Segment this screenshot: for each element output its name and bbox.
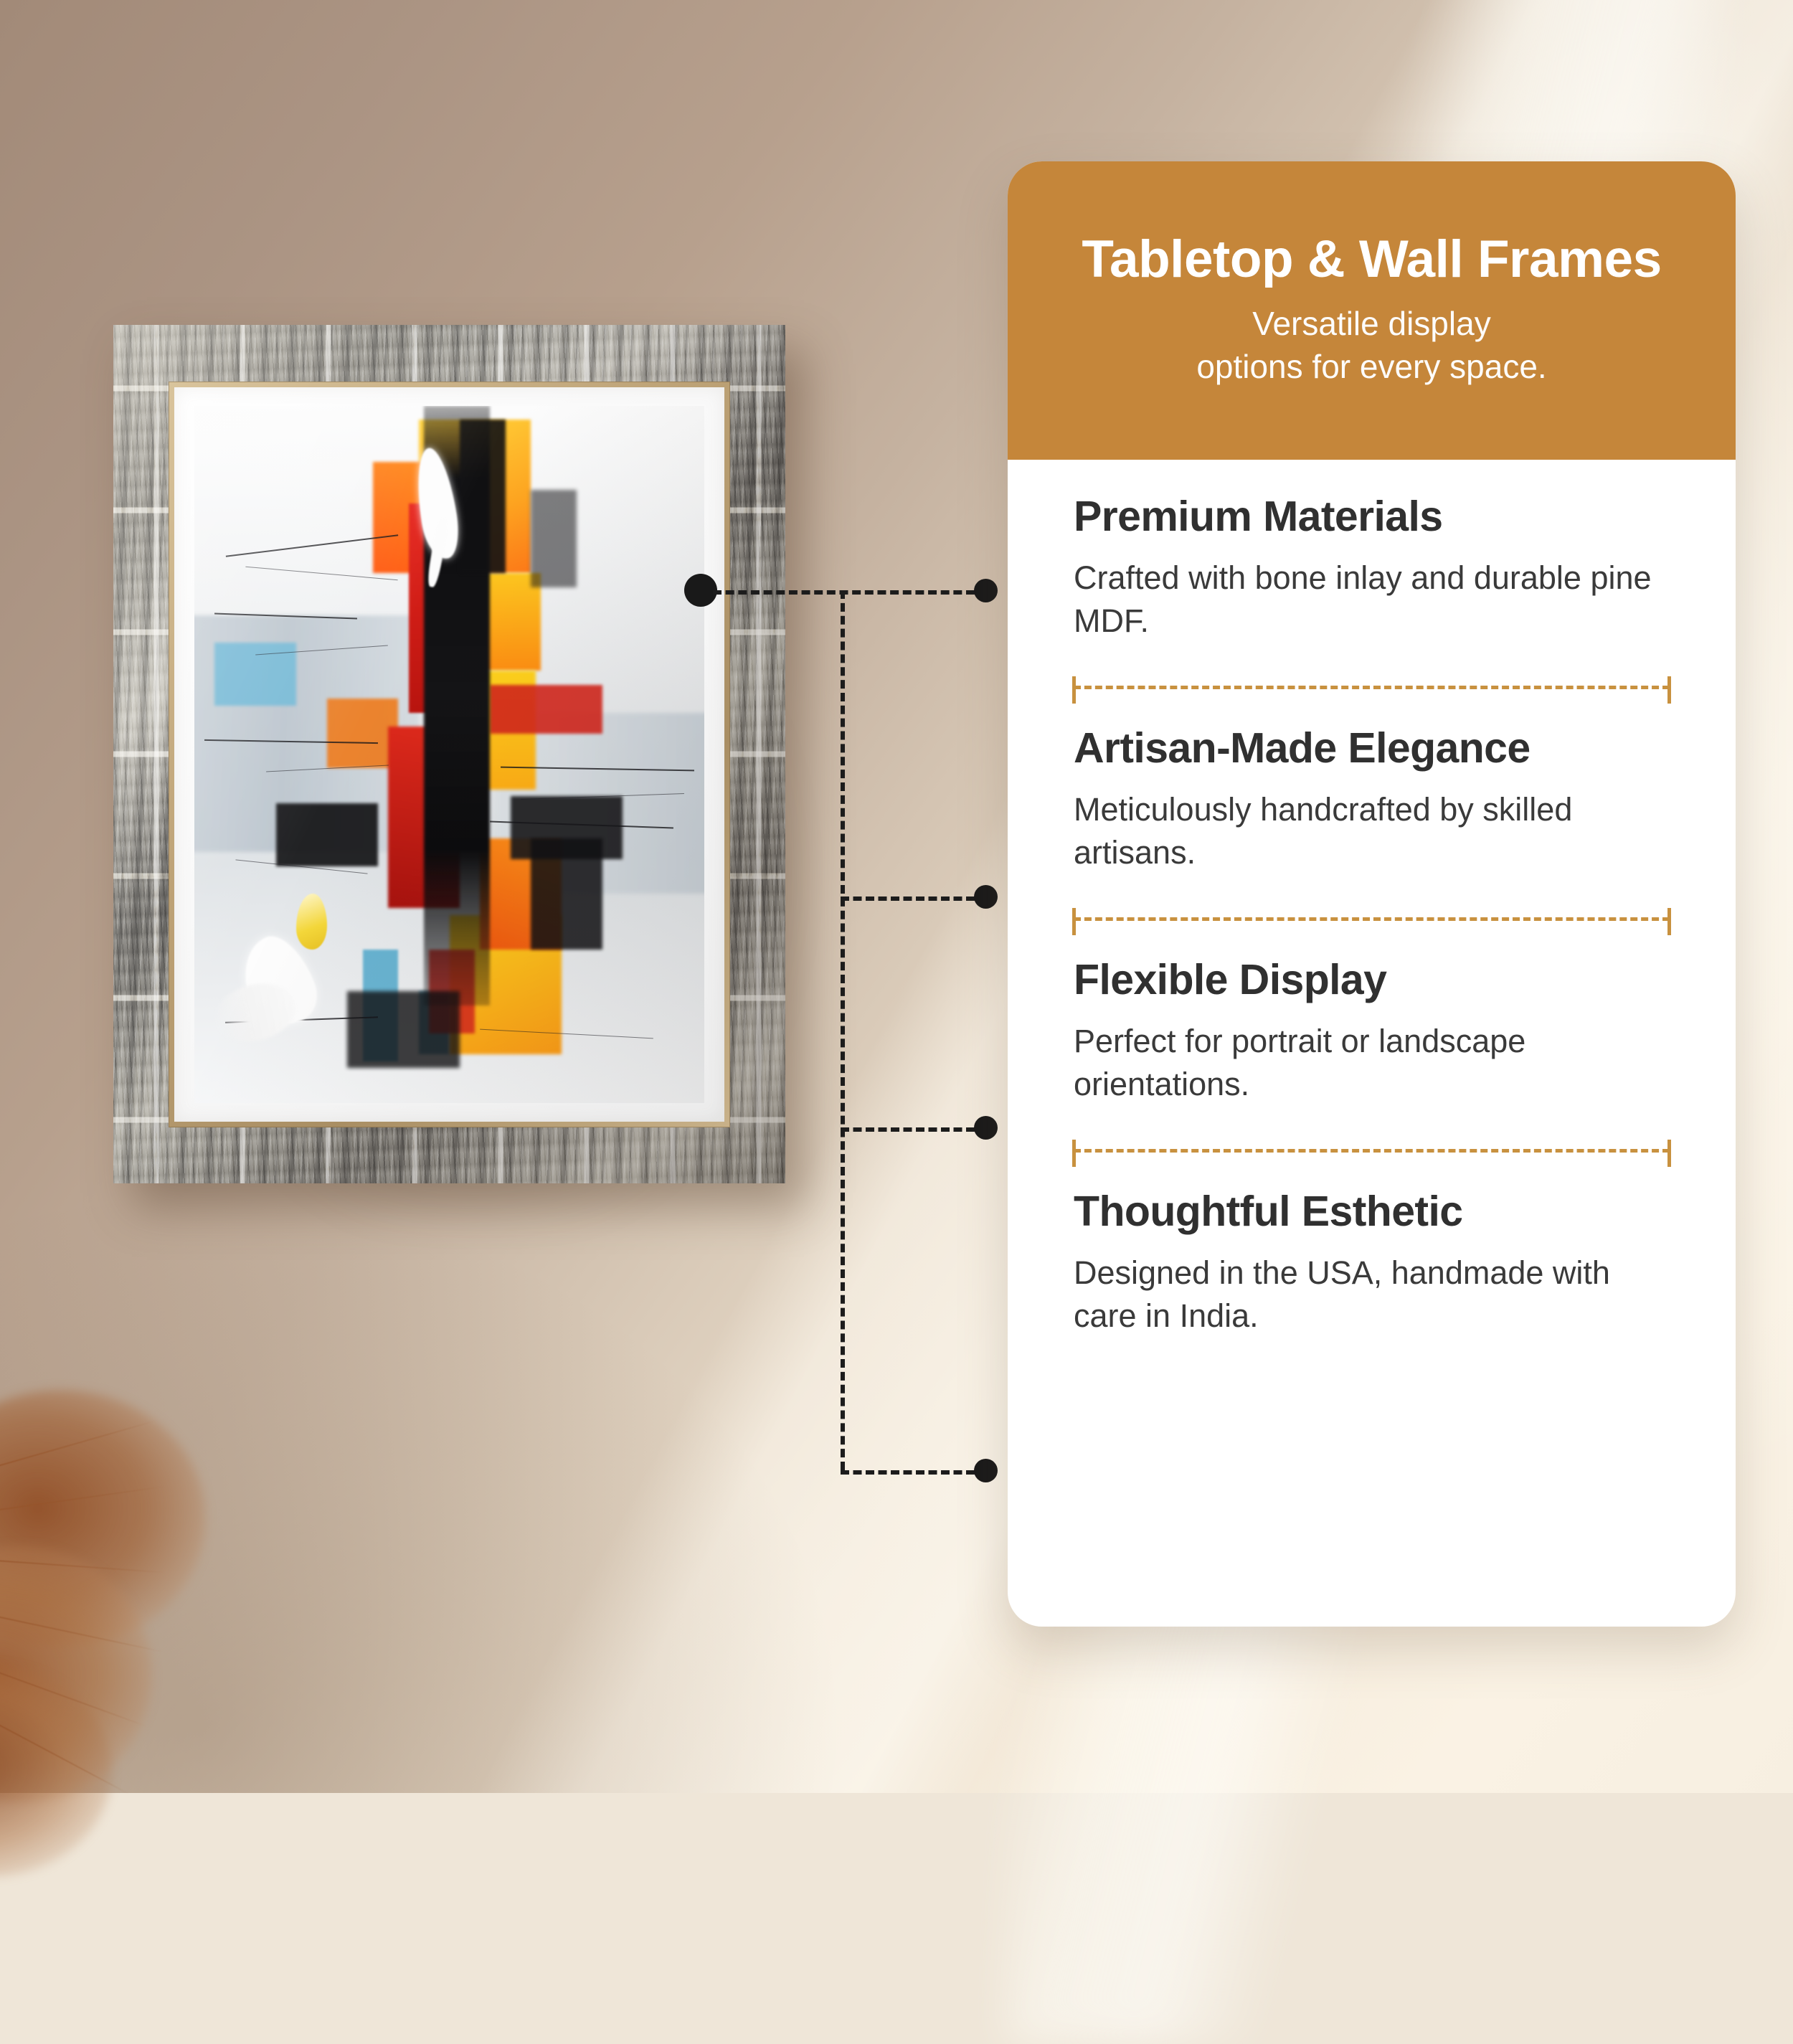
feature-list: Premium Materials Crafted with bone inla…	[1008, 460, 1736, 1338]
feature-divider-3	[1074, 1149, 1670, 1155]
card-subtitle-line1: Versatile display	[1252, 305, 1490, 342]
callout-dot-1	[974, 579, 998, 602]
feature-divider-2	[1074, 917, 1670, 923]
callout-dot-4	[974, 1459, 998, 1482]
feature-description: Perfect for portrait or landscape orient…	[1074, 1020, 1670, 1107]
callout-line-4	[841, 1470, 975, 1475]
callout-line-3	[841, 1127, 975, 1132]
callout-line-2	[841, 896, 975, 901]
feature-item-premium-materials: Premium Materials Crafted with bone inla…	[1008, 460, 1736, 643]
product-info-card: Tabletop & Wall Frames Versatile display…	[1008, 161, 1736, 1627]
card-subtitle: Versatile display options for every spac…	[1196, 303, 1546, 389]
card-title: Tabletop & Wall Frames	[1082, 232, 1661, 287]
feature-title: Artisan-Made Elegance	[1074, 726, 1670, 771]
feature-item-thoughtful-esthetic: Thoughtful Esthetic Designed in the USA,…	[1008, 1155, 1736, 1338]
feature-item-flexible-display: Flexible Display Perfect for portrait or…	[1008, 923, 1736, 1106]
card-header: Tabletop & Wall Frames Versatile display…	[1008, 161, 1736, 460]
feature-item-artisan-made-elegance: Artisan-Made Elegance Meticulously handc…	[1008, 691, 1736, 874]
callout-dot-3	[974, 1116, 998, 1140]
callout-dot-2	[974, 885, 998, 909]
feature-divider-1	[1074, 686, 1670, 691]
feature-title: Thoughtful Esthetic	[1074, 1189, 1670, 1234]
feature-title: Flexible Display	[1074, 957, 1670, 1003]
feature-title: Premium Materials	[1074, 494, 1670, 539]
feature-description: Designed in the USA, handmade with care …	[1074, 1252, 1670, 1338]
feature-description: Meticulously handcrafted by skilled arti…	[1074, 788, 1670, 875]
feature-description: Crafted with bone inlay and durable pine…	[1074, 557, 1670, 643]
card-subtitle-line2: options for every space.	[1196, 348, 1546, 385]
callout-trunk-line	[841, 590, 845, 1470]
